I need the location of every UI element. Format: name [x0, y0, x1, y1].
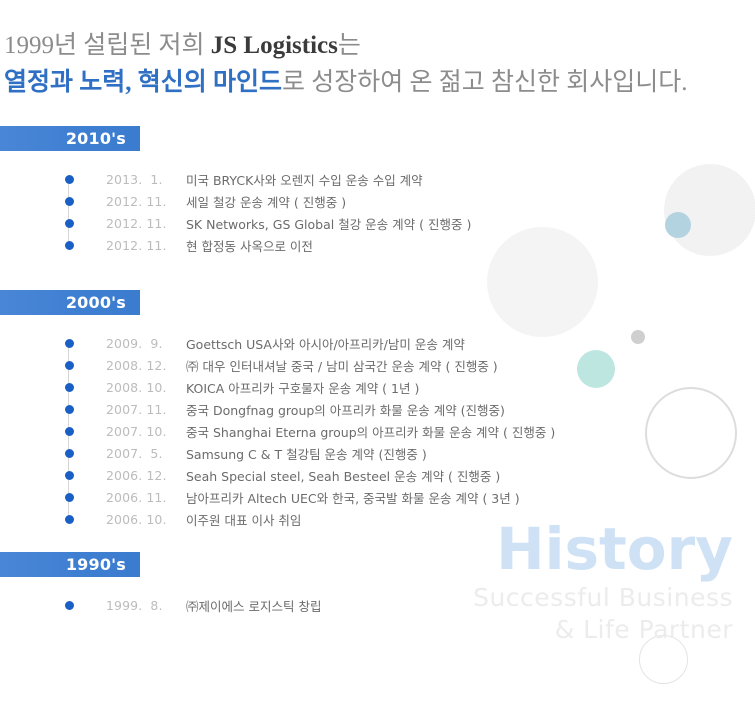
decade-badge-1990s: 1990's [0, 552, 140, 577]
event-description: Goettsch USA사와 아시아/아프리카/남미 운송 계약 [186, 334, 465, 353]
timeline-event-row: 2008. 12.㈜ 대우 인터내셔날 중국 / 남미 삼국간 운송 계약 ( … [62, 354, 755, 376]
timeline-event-row: 2012. 11.현 합정동 사옥으로 이전 [62, 234, 755, 256]
event-date: 2006. 11. [106, 490, 186, 505]
event-date: 2013. 1. [106, 172, 186, 187]
timeline-bullet-icon [65, 383, 74, 392]
decorative-ring-small [639, 635, 688, 684]
timeline-event-row: 2012. 11.세일 철강 운송 계약 ( 진행중 ) [62, 190, 755, 212]
decade-badge-2000s: 2000's [0, 290, 140, 315]
event-description: 중국 Dongfnag group의 아프리카 화물 운송 계약 (진행중) [186, 400, 505, 419]
headline-prefix: 1999년 설립된 저희 [4, 32, 211, 59]
event-date: 1999. 8. [106, 598, 186, 613]
headline-line-2: 열정과 노력, 혁신의 마인드로 성장하여 온 젊고 참신한 회사입니다. [4, 67, 744, 99]
headline-accent-phrase: 열정과 노력, 혁신의 마인드 [4, 69, 282, 96]
event-description: KOICA 아프리카 구호물자 운송 계약 ( 1년 ) [186, 378, 419, 397]
headline-line-1: 1999년 설립된 저희 JS Logistics는 [4, 30, 744, 62]
event-date: 2012. 11. [106, 216, 186, 231]
headline-suffix: 는 [338, 32, 361, 59]
timeline-bullet-icon [65, 515, 74, 524]
event-date: 2007. 10. [106, 424, 186, 439]
timeline-event-row: 2006. 10.이주원 대표 이사 취임 [62, 508, 755, 530]
page-title: 1999년 설립된 저희 JS Logistics는 열정과 노력, 혁신의 마… [4, 30, 744, 99]
timeline-bullet-icon [65, 241, 74, 250]
timeline-event-row: 2012. 11.SK Networks, GS Global 철강 운송 계약… [62, 212, 755, 234]
event-description: 이주원 대표 이사 취임 [186, 510, 301, 529]
timeline-event-row: 2006. 12.Seah Special steel, Seah Bestee… [62, 464, 755, 486]
event-date: 2006. 12. [106, 468, 186, 483]
timeline-bullet-icon [65, 197, 74, 206]
timeline-bullet-icon [65, 219, 74, 228]
timeline-bullet-icon [65, 471, 74, 480]
event-description: Seah Special steel, Seah Besteel 운송 계약 (… [186, 466, 500, 485]
event-date: 2006. 10. [106, 512, 186, 527]
event-date: 2007. 5. [106, 446, 186, 461]
company-name: JS Logistics [211, 32, 338, 59]
event-description: SK Networks, GS Global 철강 운송 계약 ( 진행중 ) [186, 214, 471, 233]
event-date: 2007. 11. [106, 402, 186, 417]
timeline-1990s: 1999. 8.㈜제이에스 로지스틱 창립 [0, 594, 755, 616]
event-list-1990s: 1999. 8.㈜제이에스 로지스틱 창립 [62, 594, 755, 616]
event-description: 남아프리카 Altech UEC와 한국, 중국발 화물 운송 계약 ( 3년 … [186, 488, 520, 507]
watermark-subtitle-2: & Life Partner [473, 614, 733, 646]
timeline-bullet-icon [65, 361, 74, 370]
timeline-bullet-icon [65, 175, 74, 184]
event-date: 2012. 11. [106, 238, 186, 253]
timeline-2010s: 2013. 1.미국 BRYCK사와 오렌지 수입 운송 수입 계약2012. … [0, 168, 755, 256]
event-date: 2012. 11. [106, 194, 186, 209]
event-description: 세일 철강 운송 계약 ( 진행중 ) [186, 192, 346, 211]
timeline-2000s: 2009. 9.Goettsch USA사와 아시아/아프리카/남미 운송 계약… [0, 332, 755, 530]
timeline-bullet-icon [65, 427, 74, 436]
headline-tail: 로 성장하여 온 젊고 참신한 회사입니다. [282, 69, 688, 96]
timeline-event-row: 2013. 1.미국 BRYCK사와 오렌지 수입 운송 수입 계약 [62, 168, 755, 190]
timeline-event-row: 2006. 11.남아프리카 Altech UEC와 한국, 중국발 화물 운송… [62, 486, 755, 508]
timeline-bullet-icon [65, 493, 74, 502]
event-date: 2008. 12. [106, 358, 186, 373]
timeline-bullet-icon [65, 601, 74, 610]
timeline-bullet-icon [65, 339, 74, 348]
event-date: 2009. 9. [106, 336, 186, 351]
timeline-event-row: 2007. 5.Samsung C & T 철강팀 운송 계약 (진행중 ) [62, 442, 755, 464]
timeline-event-row: 2007. 11.중국 Dongfnag group의 아프리카 화물 운송 계… [62, 398, 755, 420]
event-list-2010s: 2013. 1.미국 BRYCK사와 오렌지 수입 운송 수입 계약2012. … [62, 168, 755, 256]
decade-section-1990s: 1990's 1999. 8.㈜제이에스 로지스틱 창립 [0, 552, 755, 616]
decade-section-2010s: 2010's 2013. 1.미국 BRYCK사와 오렌지 수입 운송 수입 계… [0, 126, 755, 256]
event-date: 2008. 10. [106, 380, 186, 395]
event-description: 현 합정동 사옥으로 이전 [186, 236, 313, 255]
event-description: 미국 BRYCK사와 오렌지 수입 운송 수입 계약 [186, 170, 423, 189]
event-description: 중국 Shanghai Eterna group의 아프리카 화물 운송 계약 … [186, 422, 555, 441]
event-description: Samsung C & T 철강팀 운송 계약 (진행중 ) [186, 444, 427, 463]
decade-section-2000s: 2000's 2009. 9.Goettsch USA사와 아시아/아프리카/남… [0, 290, 755, 530]
timeline-event-row: 2008. 10.KOICA 아프리카 구호물자 운송 계약 ( 1년 ) [62, 376, 755, 398]
event-description: ㈜제이에스 로지스틱 창립 [186, 596, 321, 615]
timeline-event-row: 2009. 9.Goettsch USA사와 아시아/아프리카/남미 운송 계약 [62, 332, 755, 354]
timeline-bullet-icon [65, 449, 74, 458]
timeline-event-row: 1999. 8.㈜제이에스 로지스틱 창립 [62, 594, 755, 616]
decade-badge-2010s: 2010's [0, 126, 140, 151]
event-list-2000s: 2009. 9.Goettsch USA사와 아시아/아프리카/남미 운송 계약… [62, 332, 755, 530]
event-description: ㈜ 대우 인터내셔날 중국 / 남미 삼국간 운송 계약 ( 진행중 ) [186, 356, 498, 375]
timeline-event-row: 2007. 10.중국 Shanghai Eterna group의 아프리카 … [62, 420, 755, 442]
timeline-bullet-icon [65, 405, 74, 414]
